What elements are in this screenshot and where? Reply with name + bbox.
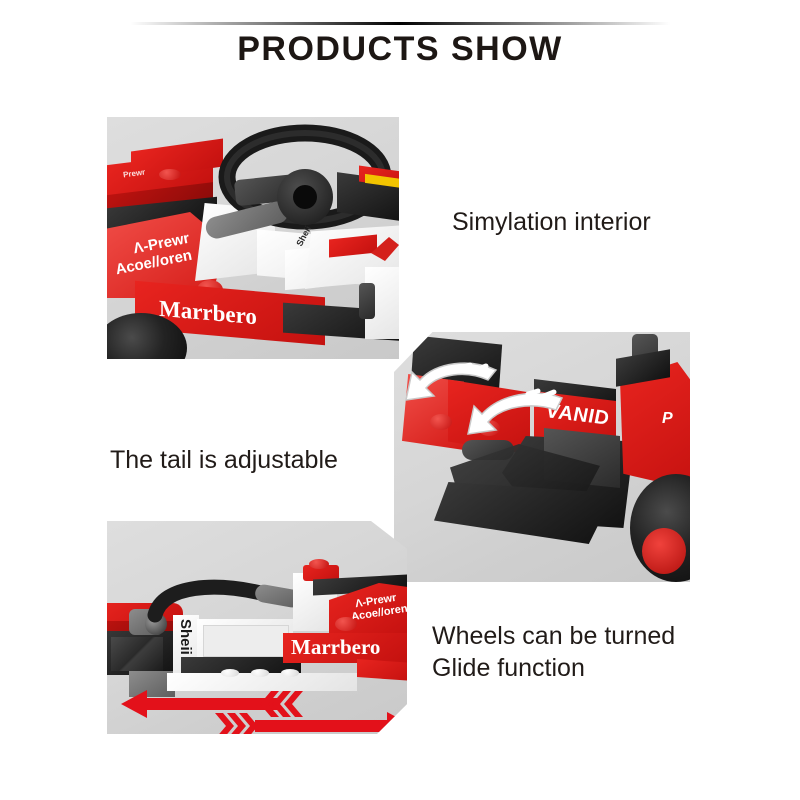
gear-hub-center: [293, 185, 317, 209]
cockpit-interior-photo: Prewr Λ-Prewr Acoe//oren Sheii: [107, 117, 399, 359]
logo-mark-icon: [369, 231, 399, 265]
glide-arrow-right: [253, 711, 407, 734]
header-divider: [130, 22, 670, 25]
side-view-glide-photo: Sheii Λ-Prewr Acoe//oren Marrbero: [107, 521, 407, 734]
rear-wing-photo: VANID P: [394, 332, 690, 582]
lego-stud: [281, 669, 299, 677]
caption-wheels-glide: Wheels can be turned Glide function: [432, 620, 675, 684]
lego-stud: [221, 669, 239, 677]
diffuser-detail: [111, 637, 163, 671]
pin-black: [359, 283, 375, 319]
chassis-inset: [203, 625, 289, 657]
lego-stud: [159, 169, 181, 180]
lego-stud: [335, 617, 357, 631]
caption-tail-adjustable: The tail is adjustable: [110, 444, 338, 476]
caption-simulation-interior: Simylation interior: [452, 206, 651, 238]
wheel-rim: [642, 528, 686, 574]
product-show-page: PRODUCTS SHOW Prewr Λ-Prewr Acoe//oren: [0, 0, 800, 800]
tilt-arrow-lower: [452, 382, 582, 444]
page-title: PRODUCTS SHOW: [0, 30, 800, 69]
lego-stud: [251, 669, 269, 677]
sponsor-decal-marrbero: Marrbero: [291, 635, 380, 660]
lego-stud: [309, 559, 329, 569]
body-decal: P: [662, 410, 673, 428]
sponsor-decal-vertical: Sheii: [177, 619, 194, 655]
